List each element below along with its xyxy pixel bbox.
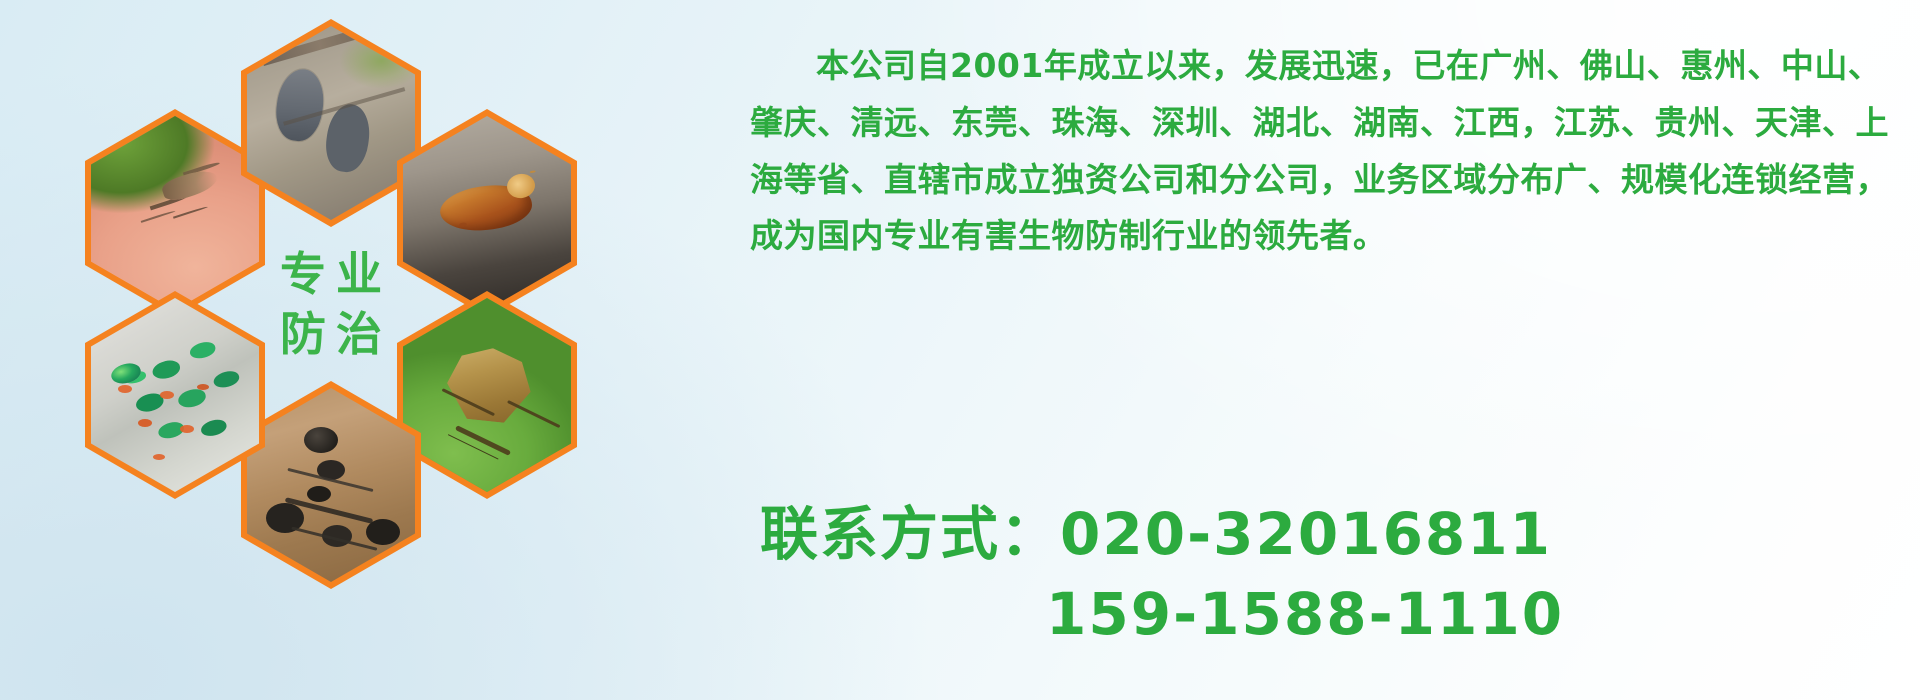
honeycomb-center-label: 专业 防治 [241, 200, 421, 408]
honeycomb-cluster: 专业 防治 [85, 0, 645, 694]
hex-image-cockroach [403, 116, 571, 310]
flies-photo [91, 298, 259, 492]
contact-block: 联系方式：020-32016811 159-1588-1110 [760, 494, 1900, 654]
company-intro: 本公司自2001年成立以来，发展迅速，已在广州、佛山、惠州、中山、肇庆、清远、东… [750, 38, 1900, 265]
hex-cell-rats[interactable] [241, 19, 421, 227]
cockroach-photo [403, 116, 571, 310]
center-label-line-1: 专业 [270, 251, 392, 297]
hex-image-mosquito [91, 116, 259, 310]
company-intro-paragraph: 本公司自2001年成立以来，发展迅速，已在广州、佛山、惠州、中山、肇庆、清远、东… [750, 38, 1900, 265]
contact-line-primary[interactable]: 联系方式：020-32016811 [760, 494, 1900, 574]
center-label-line-2: 防治 [270, 311, 392, 357]
hex-cell-mosquito[interactable] [85, 109, 265, 317]
rats-photo [247, 26, 415, 220]
hex-image-stinkbug [403, 298, 571, 492]
banner-content: 本公司自2001年成立以来，发展迅速，已在广州、佛山、惠州、中山、肇庆、清远、东… [740, 0, 1900, 700]
contact-line-secondary[interactable]: 159-1588-1110 [760, 574, 1900, 654]
hex-cell-cockroach[interactable] [397, 109, 577, 317]
hex-cell-flies[interactable] [85, 291, 265, 499]
ant-photo [247, 388, 415, 582]
promo-banner: 专业 防治 本公司自2001年成立以来，发展迅速，已在广州、佛山、惠州、中山、肇… [0, 0, 1920, 700]
hex-image-ant [247, 388, 415, 582]
hex-cell-ant[interactable] [241, 381, 421, 589]
hex-image-rats [247, 26, 415, 220]
hex-cell-stinkbug[interactable] [397, 291, 577, 499]
stinkbug-photo [403, 298, 571, 492]
mosquito-photo [91, 116, 259, 310]
hex-image-flies [91, 298, 259, 492]
